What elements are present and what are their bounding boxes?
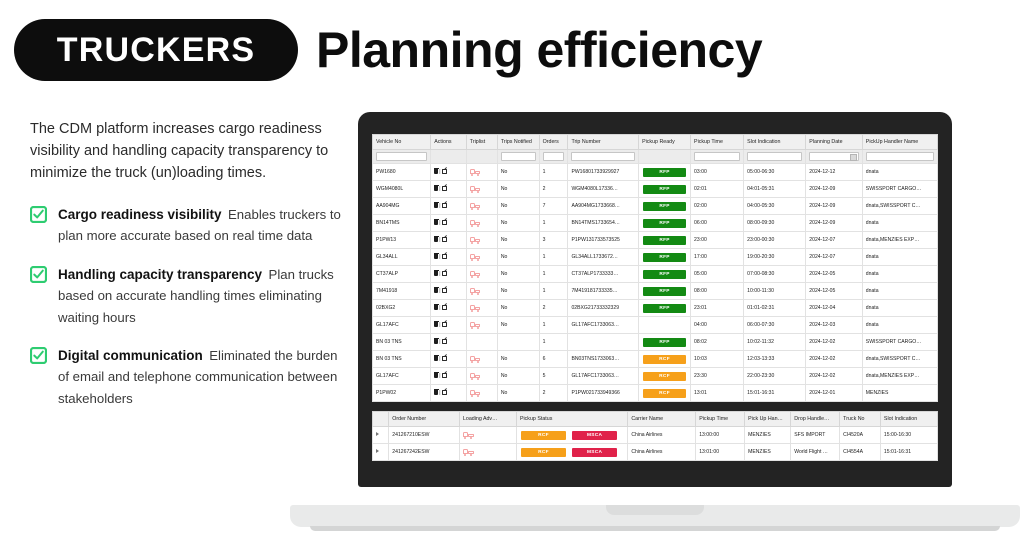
column-header-expander	[373, 412, 389, 427]
delete-icon[interactable]	[434, 288, 438, 293]
column-header-trip-number[interactable]: Trip Number	[568, 135, 639, 150]
cell-slot-indication: 07:00-08:30	[744, 266, 806, 283]
cell-pickup-handler-name: dnata,SWISSPORT C…	[862, 351, 937, 368]
column-header-pickup-time[interactable]: Pickup Time	[691, 135, 744, 150]
cell-orders: 1	[539, 164, 568, 181]
cell-planning-date: 2024-12-01	[806, 385, 863, 402]
action-separator: |	[439, 305, 440, 311]
column-header-pickup-status[interactable]: Pickup Status	[516, 412, 627, 427]
cell-orders: 7	[539, 198, 568, 215]
cell-pickup-ready: RFP	[639, 232, 691, 249]
slide-root: TRUCKERS Planning efficiency The CDM pla…	[0, 0, 1024, 546]
chevron-right-icon[interactable]	[376, 432, 379, 436]
truck-icon[interactable]	[470, 271, 481, 278]
delete-icon[interactable]	[434, 356, 438, 361]
cell-vehicle-no: GL34ALL	[373, 249, 431, 266]
cell-trips-notified: No	[497, 283, 539, 300]
cell-pickup-ready: RFP	[639, 198, 691, 215]
trips-grid: Vehicle No Actions Triplist Trips Notifi…	[372, 134, 938, 402]
cell-slot-indication: 04:01-05:31	[744, 181, 806, 198]
action-separator: |	[439, 322, 440, 328]
cell-actions[interactable]: |	[431, 232, 467, 249]
table-row[interactable]: BN 03 TNS|No6BN03TNS1733063…RCF10:0312:0…	[373, 351, 938, 368]
grid-separator	[372, 402, 938, 411]
cell-actions[interactable]: |	[431, 317, 467, 334]
cell-pickup-handler: MENZIES	[745, 444, 791, 461]
cell-triplist[interactable]	[466, 164, 497, 181]
cell-triplist[interactable]	[466, 249, 497, 266]
cell-pickup-ready: RCF	[639, 385, 691, 402]
table-header-row: Vehicle No Actions Triplist Trips Notifi…	[373, 135, 938, 150]
laptop-notch	[606, 505, 704, 515]
cell-slot-indication: 15:01-16:31	[744, 385, 806, 402]
cell-trip-number: 7M419181733335…	[568, 283, 639, 300]
table-row[interactable]: 02BXG2|No202BXG21733332329RFP23:0101:01-…	[373, 300, 938, 317]
cell-orders: 3	[539, 232, 568, 249]
cell-slot-indication: 08:00-09:30	[744, 215, 806, 232]
cell-actions[interactable]: |	[431, 181, 467, 198]
cell-vehicle-no: BN 03 TNS	[373, 334, 431, 351]
bullet-title: Cargo readiness visibility	[58, 207, 222, 222]
truck-icon[interactable]	[470, 305, 481, 312]
edit-icon[interactable]	[442, 271, 447, 277]
delete-icon[interactable]	[434, 305, 438, 310]
cell-vehicle-no: GL17AFC	[373, 368, 431, 385]
delete-icon[interactable]	[434, 220, 438, 225]
cell-actions[interactable]: |	[431, 385, 467, 402]
cell-planning-date: 2024-12-02	[806, 368, 863, 385]
laptop-foot	[310, 526, 1000, 531]
cell-vehicle-no: 7M41918	[373, 283, 431, 300]
action-separator: |	[439, 237, 440, 243]
cell-trips-notified: No	[497, 266, 539, 283]
column-header-pickup-time[interactable]: Pickup Time	[696, 412, 745, 427]
delete-icon[interactable]	[434, 339, 438, 344]
cell-triplist[interactable]	[466, 283, 497, 300]
table-row[interactable]: 241267242ESWRCFMSCAChina Airlines13:01:0…	[373, 444, 938, 461]
column-header-drop-handler[interactable]: Drop Handle…	[791, 412, 840, 427]
truck-icon[interactable]	[470, 288, 481, 295]
header: TRUCKERS Planning efficiency	[0, 10, 1024, 90]
cell-drop-handler: World Flight …	[791, 444, 840, 461]
cell-pickup-ready: RFP	[639, 164, 691, 181]
cell-orders: 1	[539, 249, 568, 266]
cell-orders: 5	[539, 368, 568, 385]
column-header-slot-indication[interactable]: Slot Indication	[744, 135, 806, 150]
cell-pickup-time: 10:03	[691, 351, 744, 368]
audience-pill: TRUCKERS	[14, 19, 298, 81]
column-header-order-number[interactable]: Order Number	[389, 412, 460, 427]
laptop-mockup: Vehicle No Actions Triplist Trips Notifi…	[358, 112, 952, 487]
truck-icon[interactable]	[470, 237, 481, 244]
action-separator: |	[439, 169, 440, 175]
cell-pickup-ready: RFP	[639, 300, 691, 317]
column-header-vehicle-no[interactable]: Vehicle No	[373, 135, 431, 150]
delete-icon[interactable]	[434, 254, 438, 259]
cell-trip-number: BN14TMS1733654…	[568, 215, 639, 232]
calendar-icon[interactable]	[850, 154, 857, 161]
status-badge: RFP	[643, 304, 686, 313]
status-badge: RFP	[643, 338, 686, 347]
cell-orders: 1	[539, 215, 568, 232]
cell-pickup-time: 04:00	[691, 317, 744, 334]
cell-planning-date: 2024-12-09	[806, 215, 863, 232]
feature-bullet-list: Cargo readiness visibility Enables truck…	[30, 204, 350, 409]
filter-input-planning-date[interactable]	[809, 152, 859, 161]
table-row[interactable]: GL34ALL|No1GL34ALL1733672…RFP17:0019:00-…	[373, 249, 938, 266]
cell-pickup-time: 03:00	[691, 164, 744, 181]
cell-triplist[interactable]	[466, 368, 497, 385]
cell-pickup-ready: RCF	[639, 351, 691, 368]
truck-icon[interactable]	[470, 254, 481, 261]
table-row[interactable]: 241267210ESWRCFMSCAChina Airlines13:00:0…	[373, 427, 938, 444]
check-square-icon	[30, 266, 47, 283]
cell-pickup-time: 23:00	[691, 232, 744, 249]
edit-icon[interactable]	[442, 237, 447, 243]
cell-trip-number: PW16801733929927	[568, 164, 639, 181]
cell-slot-indication: 15:00-16:30	[880, 427, 937, 444]
cell-pickup-ready: RCF	[639, 368, 691, 385]
cell-triplist[interactable]	[466, 232, 497, 249]
cell-pickup-time: 17:00	[691, 249, 744, 266]
cell-trips-notified: No	[497, 215, 539, 232]
cell-pickup-time: 08:02	[691, 334, 744, 351]
cell-orders: 2	[539, 300, 568, 317]
cell-slot-indication: 05:00-06:30	[744, 164, 806, 181]
cell-vehicle-no: AA904MG	[373, 198, 431, 215]
cell-planning-date: 2024-12-09	[806, 198, 863, 215]
cell-actions[interactable]: |	[431, 215, 467, 232]
cell-planning-date: 2024-12-07	[806, 249, 863, 266]
cell-planning-date: 2024-12-02	[806, 334, 863, 351]
cell-pickup-time: 08:00	[691, 283, 744, 300]
delete-icon[interactable]	[434, 169, 438, 174]
status-badge: RCF	[643, 355, 686, 364]
cell-vehicle-no: BN 03 TNS	[373, 351, 431, 368]
action-separator: |	[439, 390, 440, 396]
cell-expander[interactable]	[373, 427, 389, 444]
truck-icon[interactable]	[470, 356, 481, 363]
cell-planning-date: 2024-12-07	[806, 232, 863, 249]
filter-blank-pickup-ready	[639, 150, 691, 164]
table-row[interactable]: GL17AFC|No1GL17AFC1733063…04:0006:00-07:…	[373, 317, 938, 334]
cell-orders: 2	[539, 181, 568, 198]
filter-input-trips-notified[interactable]	[501, 152, 536, 161]
edit-icon[interactable]	[442, 254, 447, 260]
delete-icon[interactable]	[434, 373, 438, 378]
action-separator: |	[439, 254, 440, 260]
cell-vehicle-no: P1PW02	[373, 385, 431, 402]
cell-triplist[interactable]	[466, 334, 497, 351]
cell-actions[interactable]: |	[431, 300, 467, 317]
cell-vehicle-no: PW1680	[373, 164, 431, 181]
table-header-row: Order Number Loading Adv… Pickup Status …	[373, 412, 938, 427]
edit-icon[interactable]	[442, 305, 447, 311]
cell-pickup-ready: RFP	[639, 266, 691, 283]
cell-pickup-ready: RFP	[639, 181, 691, 198]
cell-slot-indication: 22:00-23:30	[744, 368, 806, 385]
status-badge: RFP	[643, 253, 686, 262]
cell-triplist[interactable]	[466, 266, 497, 283]
truck-icon[interactable]	[470, 322, 481, 329]
cell-trip-number: AA904MG1733668…	[568, 198, 639, 215]
column-header-loading-advice[interactable]: Loading Adv…	[459, 412, 516, 427]
filter-blank-triplist	[466, 150, 497, 164]
filter-input-slot-indication[interactable]	[747, 152, 802, 161]
cell-truck-no: CI4554A	[840, 444, 881, 461]
edit-icon[interactable]	[442, 203, 447, 209]
cell-slot-indication: 19:00-20:30	[744, 249, 806, 266]
status-badge-msca: MSCA	[572, 448, 617, 457]
cell-trip-number: P1PW021733949366	[568, 385, 639, 402]
cell-trips-notified	[497, 334, 539, 351]
cell-slot-indication: 10:00-11:30	[744, 283, 806, 300]
cell-triplist[interactable]	[466, 181, 497, 198]
status-badge-rcf: RCF	[521, 431, 566, 440]
filter-input-trip-number[interactable]	[571, 152, 635, 161]
edit-icon[interactable]	[442, 356, 447, 362]
status-badge: RFP	[643, 168, 686, 177]
cell-pickup-time: 02:01	[691, 181, 744, 198]
column-header-carrier-name[interactable]: Carrier Name	[628, 412, 696, 427]
cell-pickup-time: 06:00	[691, 215, 744, 232]
filter-row	[373, 150, 938, 164]
cell-trip-number	[568, 334, 639, 351]
laptop-screen: Vehicle No Actions Triplist Trips Notifi…	[358, 112, 952, 487]
list-item: Digital communication Eliminated the bur…	[30, 345, 350, 409]
cell-actions[interactable]: |	[431, 198, 467, 215]
delete-icon[interactable]	[434, 271, 438, 276]
check-square-icon	[30, 206, 47, 223]
action-separator: |	[439, 339, 440, 345]
cell-triplist[interactable]	[466, 198, 497, 215]
cell-loading-advice[interactable]	[459, 444, 516, 461]
column-header-triplist[interactable]: Triplist	[466, 135, 497, 150]
delete-icon[interactable]	[434, 203, 438, 208]
cell-triplist[interactable]	[466, 385, 497, 402]
status-badge-rcf: RCF	[521, 448, 566, 457]
cell-triplist[interactable]	[466, 351, 497, 368]
cell-planning-date: 2024-12-09	[806, 181, 863, 198]
truck-icon[interactable]	[470, 220, 481, 227]
cell-triplist[interactable]	[466, 215, 497, 232]
cell-trip-number: CT37ALP1733333…	[568, 266, 639, 283]
cell-pickup-time: 23:30	[691, 368, 744, 385]
cell-expander[interactable]	[373, 444, 389, 461]
cell-pickup-ready	[639, 317, 691, 334]
cell-vehicle-no: BN14TMS	[373, 215, 431, 232]
table-row[interactable]: BN14TMS|No1BN14TMS1733654…RFP06:0008:00-…	[373, 215, 938, 232]
column-header-pickup-handler[interactable]: Pick Up Han…	[745, 412, 791, 427]
cell-trip-number: BN03TNS1733063…	[568, 351, 639, 368]
action-separator: |	[439, 356, 440, 362]
cell-pickup-handler-name: dnata	[862, 164, 937, 181]
cell-pickup-handler-name: SWISSPORT CARGO…	[862, 181, 937, 198]
cell-trips-notified: No	[497, 351, 539, 368]
cell-slot-indication: 15:01-16:31	[880, 444, 937, 461]
cell-trips-notified: No	[497, 317, 539, 334]
column-header-planning-date[interactable]: Planning Date	[806, 135, 863, 150]
cell-pickup-handler-name: dnata	[862, 283, 937, 300]
cell-trip-number: WGM4080L17336…	[568, 181, 639, 198]
filter-input-orders[interactable]	[543, 152, 565, 161]
delete-icon[interactable]	[434, 390, 438, 395]
delete-icon[interactable]	[434, 322, 438, 327]
filter-input-pickup-handler-name[interactable]	[866, 152, 934, 161]
cell-planning-date: 2024-12-12	[806, 164, 863, 181]
list-item: Handling capacity transparency Plan truc…	[30, 264, 350, 328]
cell-vehicle-no: WGM4080L	[373, 181, 431, 198]
cell-pickup-status: RCFMSCA	[516, 427, 627, 444]
edit-icon[interactable]	[442, 169, 447, 175]
cell-actions[interactable]: |	[431, 266, 467, 283]
cell-pickup-handler-name: dnata,MENZIES EXP…	[862, 368, 937, 385]
cell-pickup-handler-name: dnata	[862, 266, 937, 283]
cell-trips-notified: No	[497, 385, 539, 402]
cell-pickup-time: 13:01:00	[696, 444, 745, 461]
truck-icon[interactable]	[470, 203, 481, 210]
truck-icon[interactable]	[463, 449, 474, 456]
trips-grid-body: PW1680|No1PW16801733929927RFP03:0005:00-…	[373, 164, 938, 402]
cell-vehicle-no: GL17AFC	[373, 317, 431, 334]
cell-actions[interactable]: |	[431, 351, 467, 368]
cell-planning-date: 2024-12-03	[806, 317, 863, 334]
edit-icon[interactable]	[442, 339, 447, 345]
filter-input-pickup-time[interactable]	[694, 152, 740, 161]
list-item: Cargo readiness visibility Enables truck…	[30, 204, 350, 247]
cell-planning-date: 2024-12-02	[806, 351, 863, 368]
status-badge: RFP	[643, 287, 686, 296]
status-badge: RFP	[643, 219, 686, 228]
cell-slot-indication: 10:02-11:32	[744, 334, 806, 351]
cell-orders: 6	[539, 351, 568, 368]
cell-pickup-handler-name: dnata	[862, 317, 937, 334]
action-separator: |	[439, 203, 440, 209]
cell-trips-notified: No	[497, 164, 539, 181]
cell-carrier-name: China Airlines	[628, 444, 696, 461]
cell-order-number: 241267210ESW	[389, 427, 460, 444]
table-row[interactable]: 7M41918|No17M419181733335…RFP08:0010:00-…	[373, 283, 938, 300]
cell-slot-indication: 01:01-02:31	[744, 300, 806, 317]
cell-trips-notified: No	[497, 232, 539, 249]
column-header-pickup-ready[interactable]: Pickup Ready	[639, 135, 691, 150]
truck-icon[interactable]	[463, 432, 474, 439]
orders-grid-body: 241267210ESWRCFMSCAChina Airlines13:00:0…	[373, 427, 938, 461]
truck-icon[interactable]	[470, 390, 481, 397]
column-header-pickup-handler-name[interactable]: PickUp Handler Name	[862, 135, 937, 150]
cell-slot-indication: 04:00-05:30	[744, 198, 806, 215]
status-badge: RFP	[643, 270, 686, 279]
cell-actions[interactable]: |	[431, 368, 467, 385]
table-row[interactable]: CT37ALP|No1CT37ALP1733333…RFP05:0007:00-…	[373, 266, 938, 283]
edit-icon[interactable]	[442, 322, 447, 328]
cell-pickup-handler-name: SWISSPORT CARGO…	[862, 334, 937, 351]
cell-pickup-handler-name: dnata,MENZIES EXP…	[862, 232, 937, 249]
action-separator: |	[439, 220, 440, 226]
cell-pickup-time: 23:01	[691, 300, 744, 317]
column-header-slot-indication[interactable]: Slot Indication	[880, 412, 937, 427]
check-square-icon	[30, 347, 47, 364]
cell-planning-date: 2024-12-05	[806, 283, 863, 300]
edit-icon[interactable]	[442, 220, 447, 226]
cell-orders: 2	[539, 385, 568, 402]
delete-icon[interactable]	[434, 237, 438, 242]
edit-icon[interactable]	[442, 373, 447, 379]
edit-icon[interactable]	[442, 288, 447, 294]
action-separator: |	[439, 271, 440, 277]
table-row[interactable]: BN 03 TNS|1RFP08:0210:02-11:322024-12-02…	[373, 334, 938, 351]
cell-loading-advice[interactable]	[459, 427, 516, 444]
column-header-actions[interactable]: Actions	[431, 135, 467, 150]
cell-actions[interactable]: |	[431, 283, 467, 300]
table-row[interactable]: P1PW13|No3P1PW131733573525RFP23:0023:00-…	[373, 232, 938, 249]
cell-pickup-time: 02:00	[691, 198, 744, 215]
left-content-column: The CDM platform increases cargo readine…	[30, 118, 350, 426]
table-row[interactable]: P1PW02|No2P1PW021733949366RCF13:0115:01-…	[373, 385, 938, 402]
cell-trip-number: GL17AFC1733063…	[568, 317, 639, 334]
cell-orders: 1	[539, 266, 568, 283]
column-header-trips-notified[interactable]: Trips Notified	[497, 135, 539, 150]
cell-slot-indication: 23:00-00:30	[744, 232, 806, 249]
cell-pickup-ready: RFP	[639, 334, 691, 351]
cell-pickup-handler: MENZIES	[745, 427, 791, 444]
cell-triplist[interactable]	[466, 300, 497, 317]
delete-icon[interactable]	[434, 186, 438, 191]
table-row[interactable]: AA904MG|No7AA904MG1733668…RFP02:0004:00-…	[373, 198, 938, 215]
cell-pickup-time: 13:00:00	[696, 427, 745, 444]
table-row[interactable]: WGM4080L|No2WGM4080L17336…RFP02:0104:01-…	[373, 181, 938, 198]
cell-pickup-ready: RFP	[639, 249, 691, 266]
cell-pickup-status: RCFMSCA	[516, 444, 627, 461]
cell-trip-number: GL34ALL1733672…	[568, 249, 639, 266]
cell-actions[interactable]: |	[431, 249, 467, 266]
cell-truck-no: CI4520A	[840, 427, 881, 444]
cell-order-number: 241267242ESW	[389, 444, 460, 461]
cell-pickup-handler-name: MENZIES	[862, 385, 937, 402]
truck-icon[interactable]	[470, 186, 481, 193]
intro-paragraph: The CDM platform increases cargo readine…	[30, 118, 350, 184]
cell-trips-notified: No	[497, 181, 539, 198]
cell-orders: 1	[539, 317, 568, 334]
table-row[interactable]: PW1680|No1PW16801733929927RFP03:0005:00-…	[373, 164, 938, 181]
filter-input-vehicle-no[interactable]	[376, 152, 427, 161]
action-separator: |	[439, 373, 440, 379]
cell-actions[interactable]: |	[431, 164, 467, 181]
cell-actions[interactable]: |	[431, 334, 467, 351]
cell-pickup-handler-name: dnata,SWISSPORT C…	[862, 198, 937, 215]
status-badge: RFP	[643, 236, 686, 245]
cell-triplist[interactable]	[466, 317, 497, 334]
cell-planning-date: 2024-12-05	[806, 266, 863, 283]
column-header-truck-no[interactable]: Truck No	[840, 412, 881, 427]
edit-icon[interactable]	[442, 186, 447, 192]
edit-icon[interactable]	[442, 390, 447, 396]
cell-trip-number: GL17AFC1733063…	[568, 368, 639, 385]
cell-vehicle-no: P1PW13	[373, 232, 431, 249]
status-badge: RFP	[643, 202, 686, 211]
page-title: Planning efficiency	[316, 21, 762, 79]
cell-pickup-ready: RFP	[639, 215, 691, 232]
filter-blank-actions	[431, 150, 467, 164]
cell-trips-notified: No	[497, 249, 539, 266]
cell-planning-date: 2024-12-04	[806, 300, 863, 317]
table-row[interactable]: GL17AFC|No5GL17AFC1733063…RCF23:3022:00-…	[373, 368, 938, 385]
column-header-orders[interactable]: Orders	[539, 135, 568, 150]
action-separator: |	[439, 186, 440, 192]
truck-icon[interactable]	[470, 373, 481, 380]
chevron-right-icon[interactable]	[376, 449, 379, 453]
truck-icon[interactable]	[470, 169, 481, 176]
